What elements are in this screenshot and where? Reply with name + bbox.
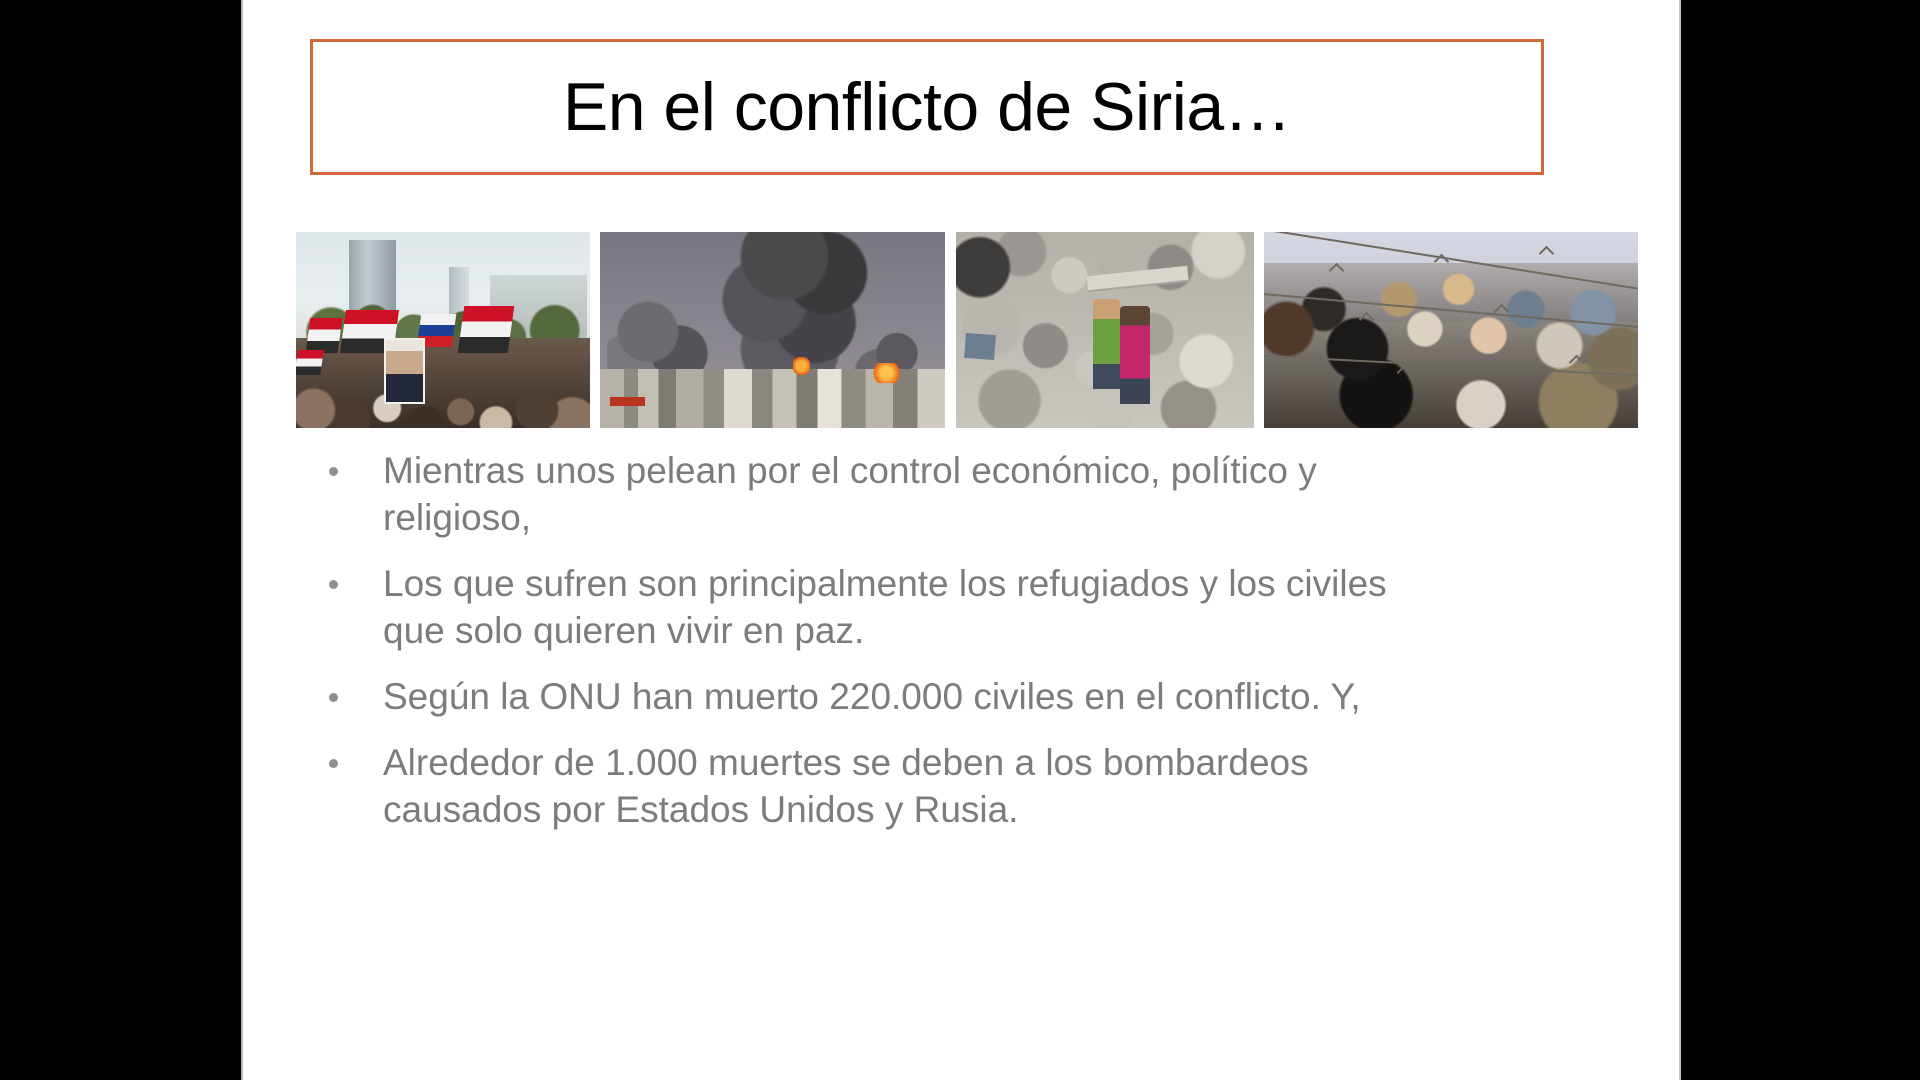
bullet-line-1: Alrededor de 1.000 muertes se deben a lo… <box>383 742 1309 783</box>
debris-panel <box>964 333 996 360</box>
syria-flag-icon <box>296 350 324 375</box>
bullet-line-1: Los que sufren son principalmente los re… <box>383 563 1387 604</box>
children-in-rubble-photo <box>956 232 1254 428</box>
fire-icon <box>873 363 901 383</box>
refugees-barbed-wire-photo <box>1264 232 1638 428</box>
bullet-line-2: causados por Estados Unidos y Rusia. <box>383 787 1603 834</box>
page-title: En el conflicto de Siria… <box>563 73 1291 141</box>
bullet-line-2: que solo quieren vivir en paz. <box>383 608 1603 655</box>
bullet-line-1: Según la ONU han muerto 220.000 civiles … <box>383 676 1361 717</box>
list-item: Los que sufren son principalmente los re… <box>313 561 1603 655</box>
child-green-jacket <box>1093 299 1120 389</box>
leader-portrait <box>384 338 425 405</box>
slide-title-box: En el conflicto de Siria… <box>310 39 1544 175</box>
slide-canvas: En el conflicto de Siria… <box>241 0 1681 1080</box>
syria-flag-icon <box>305 318 342 353</box>
child-pink-jacket <box>1120 306 1150 404</box>
pro-government-rally-photo <box>296 232 590 428</box>
photo-strip <box>296 232 1638 428</box>
refugees-scene <box>1264 232 1638 428</box>
presentation-viewer: En el conflicto de Siria… <box>0 0 1920 1080</box>
bullet-line-1: Mientras unos pelean por el control econ… <box>383 450 1317 491</box>
bullet-marker-icon <box>329 693 338 702</box>
airstrike-scene <box>600 232 945 428</box>
bullet-marker-icon <box>329 759 338 768</box>
list-item: Mientras unos pelean por el control econ… <box>313 448 1603 542</box>
fire-icon <box>793 357 810 375</box>
syria-flag-icon <box>457 306 514 353</box>
rally-scene <box>296 232 590 428</box>
bullet-line-2: religioso, <box>383 495 1603 542</box>
bullet-list: Mientras unos pelean por el control econ… <box>313 448 1603 853</box>
rubble-scene <box>956 232 1254 428</box>
bullet-marker-icon <box>329 467 338 476</box>
red-banner <box>610 397 645 407</box>
list-item: Alrededor de 1.000 muertes se deben a lo… <box>313 740 1603 834</box>
bullet-marker-icon <box>329 580 338 589</box>
list-item: Según la ONU han muerto 220.000 civiles … <box>313 674 1603 721</box>
airstrike-explosion-photo <box>600 232 945 428</box>
refugee-crowd <box>1264 263 1638 428</box>
